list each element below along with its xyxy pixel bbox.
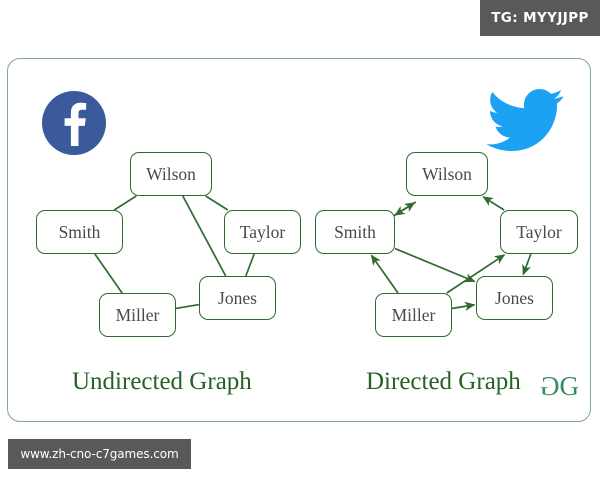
geeksforgeeks-logo: GG (541, 373, 578, 400)
graph-node-label: Wilson (146, 164, 196, 185)
twitter-icon[interactable] (487, 89, 563, 151)
logo-right-glyph: G (560, 371, 579, 401)
graph-node-label: Smith (334, 222, 376, 243)
top-right-watermark-tag: TG: MYYJJPP (480, 0, 600, 36)
graph-node-undirected-taylor[interactable]: Taylor (224, 210, 301, 254)
graph-node-undirected-jones[interactable]: Jones (199, 276, 276, 320)
graph-node-directed-miller[interactable]: Miller (375, 293, 452, 337)
graph-node-label: Jones (218, 288, 257, 309)
graph-node-directed-jones[interactable]: Jones (476, 276, 553, 320)
bottom-url-watermark: www.zh-cno-c7games.com (8, 439, 191, 469)
directed-graph-caption: Directed Graph (366, 368, 521, 396)
graph-node-label: Wilson (422, 164, 472, 185)
facebook-icon[interactable] (42, 91, 106, 155)
logo-left-glyph: G (541, 373, 560, 400)
graph-node-directed-taylor[interactable]: Taylor (500, 210, 578, 254)
graph-node-directed-wilson[interactable]: Wilson (406, 152, 488, 196)
graph-node-undirected-wilson[interactable]: Wilson (130, 152, 212, 196)
graph-node-label: Jones (495, 288, 534, 309)
graph-node-undirected-miller[interactable]: Miller (99, 293, 176, 337)
graph-node-label: Miller (392, 305, 436, 326)
graph-node-undirected-smith[interactable]: Smith (36, 210, 123, 254)
graph-node-directed-smith[interactable]: Smith (315, 210, 395, 254)
graph-node-label: Smith (59, 222, 101, 243)
undirected-graph-caption: Undirected Graph (72, 368, 252, 396)
graph-node-label: Miller (116, 305, 160, 326)
graph-node-label: Taylor (516, 222, 561, 243)
graph-node-label: Taylor (240, 222, 285, 243)
